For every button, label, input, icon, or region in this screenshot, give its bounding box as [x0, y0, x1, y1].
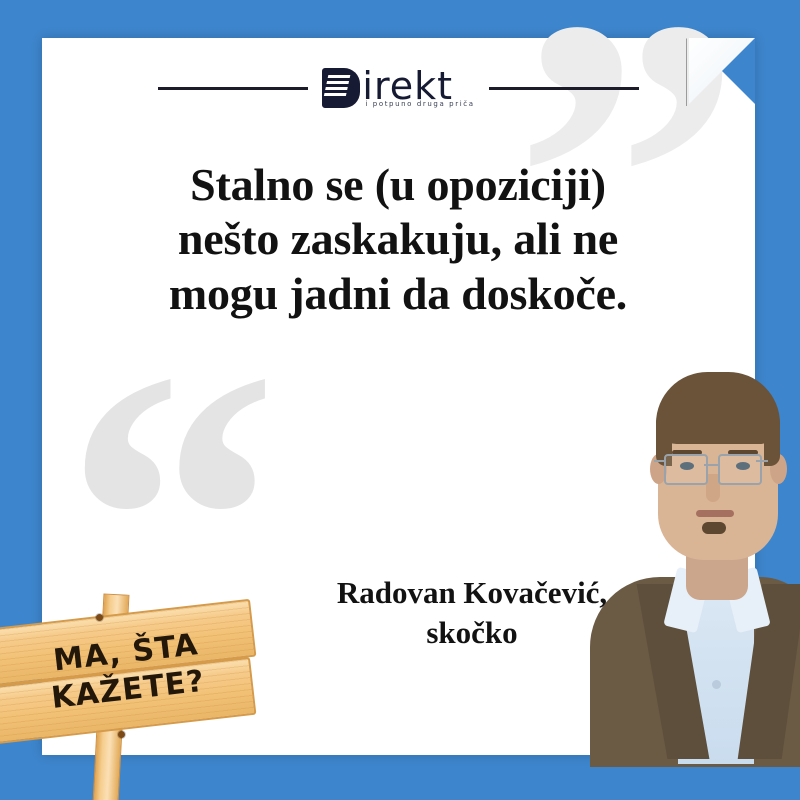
quote-text: Stalno se (u opoziciji) nešto zaskakuju,… [98, 158, 698, 321]
direkt-logo: irekt i potpuno druga priča [322, 68, 474, 108]
header-rule-right [489, 87, 639, 90]
quote-line-3: mogu jadni da doskoče. [98, 267, 698, 321]
quote-line-2: nešto zaskakuju, ali ne [98, 212, 698, 266]
sign-text: MA, ŠTA KAŽETE? [0, 600, 258, 745]
wooden-sign: MA, ŠTA KAŽETE? [0, 588, 268, 800]
card-header: irekt i potpuno druga priča [42, 68, 755, 108]
quote-card-image: ” “ irekt i potpuno druga priča Stalno s… [0, 0, 800, 800]
eyeglasses-icon [664, 454, 708, 485]
quote-line-1: Stalno se (u opoziciji) [98, 158, 698, 212]
header-rule-left [158, 87, 308, 90]
direkt-fist-d-logo-icon [322, 68, 360, 108]
logo-tagline: i potpuno druga priča [365, 100, 474, 108]
sign-nail-bottom [118, 731, 125, 738]
logo-wordmark: irekt [362, 69, 474, 104]
sign-nail-top [96, 614, 103, 621]
portrait-photo [600, 362, 800, 762]
